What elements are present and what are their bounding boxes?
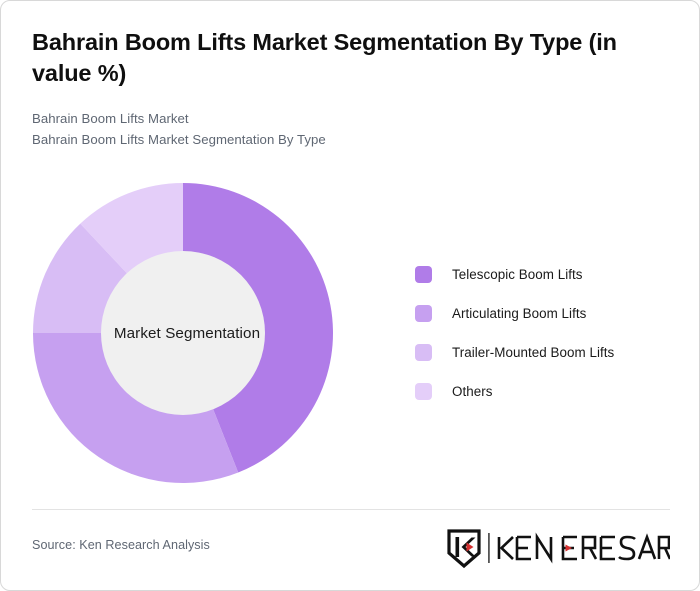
brand-logo-svg bbox=[445, 527, 670, 569]
source-note: Source: Ken Research Analysis bbox=[32, 538, 210, 552]
logo-separator bbox=[488, 533, 490, 563]
legend-item-label: Others bbox=[452, 384, 493, 399]
legend-swatch-icon bbox=[415, 344, 432, 361]
legend-swatch-icon bbox=[415, 305, 432, 322]
brand-wordmark bbox=[499, 537, 670, 559]
footer-divider bbox=[32, 509, 670, 510]
legend-item-label: Trailer-Mounted Boom Lifts bbox=[452, 345, 614, 360]
ken-research-logo bbox=[445, 527, 670, 569]
breadcrumb-segmentation: Bahrain Boom Lifts Market Segmentation B… bbox=[32, 129, 662, 150]
chart-card: Bahrain Boom Lifts Market Segmentation B… bbox=[0, 0, 700, 591]
chart-footer: Source: Ken Research Analysis bbox=[32, 525, 670, 571]
legend-item-label: Telescopic Boom Lifts bbox=[452, 267, 583, 282]
donut-chart: Market Segmentation bbox=[23, 173, 353, 493]
subtitle-group: Bahrain Boom Lifts Market Bahrain Boom L… bbox=[32, 108, 662, 151]
chart-legend: Telescopic Boom LiftsArticulating Boom L… bbox=[415, 255, 685, 411]
chart-header: Bahrain Boom Lifts Market Segmentation B… bbox=[32, 27, 662, 151]
logo-accent-triangle bbox=[566, 545, 573, 552]
breadcrumb-market: Bahrain Boom Lifts Market bbox=[32, 108, 662, 129]
donut-svg bbox=[23, 173, 353, 493]
legend-item-label: Articulating Boom Lifts bbox=[452, 306, 586, 321]
chart-plot-area: Market Segmentation Telescopic Boom Lift… bbox=[1, 161, 700, 506]
legend-swatch-icon bbox=[415, 266, 432, 283]
donut-hole bbox=[101, 251, 265, 415]
legend-item[interactable]: Articulating Boom Lifts bbox=[415, 294, 685, 333]
legend-item[interactable]: Trailer-Mounted Boom Lifts bbox=[415, 333, 685, 372]
legend-swatch-icon bbox=[415, 383, 432, 400]
page-title: Bahrain Boom Lifts Market Segmentation B… bbox=[32, 27, 662, 89]
legend-item[interactable]: Telescopic Boom Lifts bbox=[415, 255, 685, 294]
shield-k-icon bbox=[449, 531, 479, 566]
legend-item[interactable]: Others bbox=[415, 372, 685, 411]
